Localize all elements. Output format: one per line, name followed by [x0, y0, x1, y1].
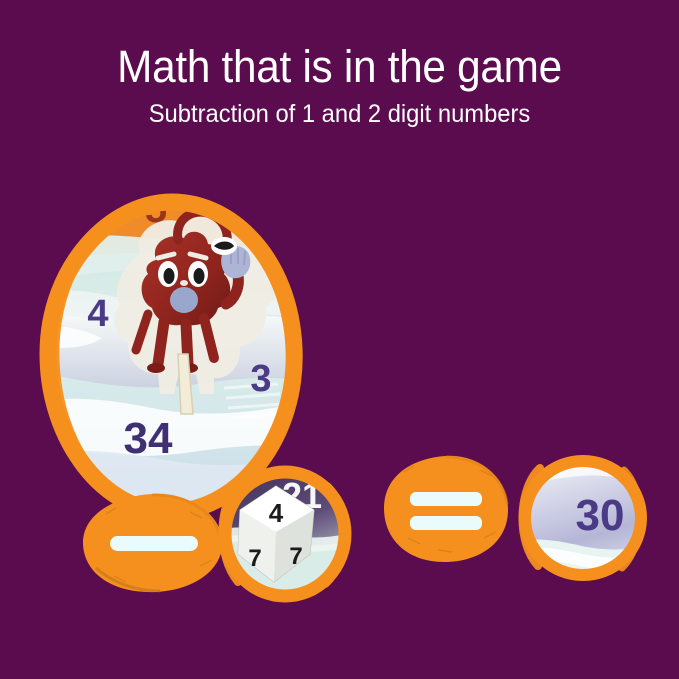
dice-circle: 21 4 7 7: [210, 458, 360, 610]
result-circle: 30: [512, 448, 654, 588]
result-value: 30: [576, 491, 625, 540]
page-subtitle: Subtraction of 1 and 2 digit numbers: [17, 99, 662, 129]
result-photo: 30: [512, 448, 654, 588]
dice-photo: 21 4 7 7: [210, 458, 360, 610]
equals-glyph-bottom: [410, 516, 482, 530]
die-face-lower-left: 7: [248, 545, 261, 572]
equals-operator: [380, 452, 512, 566]
die-face-value: 4: [269, 498, 284, 528]
minus-operator: [80, 490, 228, 594]
board-number-right: 3: [250, 358, 271, 400]
page-title: Math that is in the game: [20, 41, 658, 93]
board-number-bottom: 34: [124, 414, 173, 463]
die-face-lower-right: 7: [289, 543, 302, 570]
minus-glyph: [110, 536, 198, 551]
slide-canvas: Math that is in the game Subtraction of …: [0, 0, 679, 679]
equals-glyph-top: [410, 492, 482, 506]
board-number-left: 4: [87, 293, 108, 335]
